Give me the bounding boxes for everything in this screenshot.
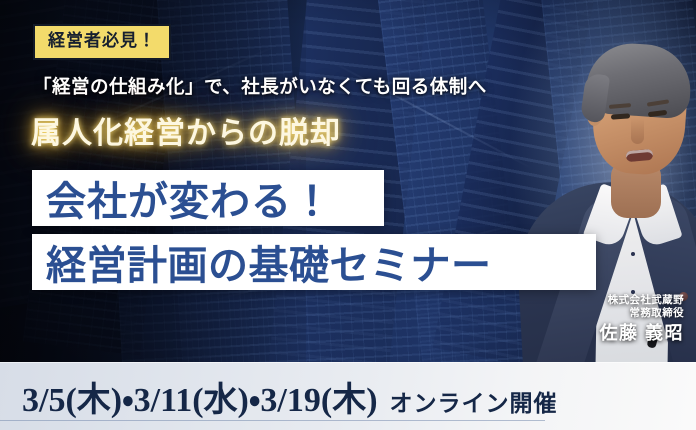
date-bar: 3/5(木)・3/11(水)・3/19(木) オンライン開催 <box>0 362 696 430</box>
audience-badge: 経営者必見！ <box>33 24 171 60</box>
glow-headline-text: 属人化経営からの脱却 <box>31 108 341 152</box>
speaker-company: 株式会社武蔵野 <box>599 294 684 307</box>
seminar-banner: 経営者必見！ 「経営の仕組み化」で、社長がいなくても回る体制へ 属人化経営からの… <box>0 0 696 430</box>
speaker-nose <box>631 118 644 144</box>
speaker-role: 常務取締役 <box>599 307 684 320</box>
delivery-format: オンライン開催 <box>390 384 558 418</box>
speaker-name: 佐藤 義昭 <box>599 322 684 345</box>
session-dates: 3/5(木)・3/11(水)・3/19(木) <box>22 372 378 421</box>
speaker-credit: 株式会社武蔵野 常務取締役 佐藤 義昭 <box>599 294 684 345</box>
subtitle-text: 「経営の仕組み化」で、社長がいなくても回る体制へ <box>33 73 487 99</box>
date-bar-underline <box>0 420 545 421</box>
main-title-line-1: 会社が変わる！ <box>32 170 384 226</box>
shirt-button-1 <box>631 252 635 256</box>
main-title-line-2: 経営計画の基礎セミナー <box>32 234 596 290</box>
